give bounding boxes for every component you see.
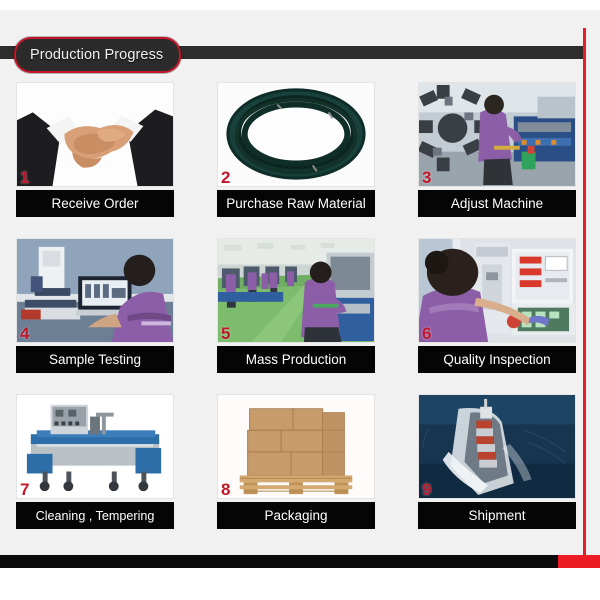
step-number: 5 <box>221 325 230 342</box>
step-label: Receive Order <box>16 190 174 217</box>
step-card-9[interactable]: 9 Shipment <box>418 394 576 529</box>
footer-dark-bar <box>0 555 560 568</box>
step-number: 4 <box>20 325 29 342</box>
right-red-rule <box>583 28 586 556</box>
operator-at-measuring-computer-photo <box>16 238 174 343</box>
cleaning-tempering-machine-photo <box>16 394 174 499</box>
step-card-4[interactable]: 4 Sample Testing <box>16 238 174 373</box>
production-progress-page: Production Progress 1 Receive Order <box>0 0 600 600</box>
step-number: 3 <box>422 169 431 186</box>
step-label: Purchase Raw Material <box>217 190 375 217</box>
step-number: 7 <box>20 481 29 498</box>
step-card-6[interactable]: 6 Quality Inspection <box>418 238 576 373</box>
step-label: Adjust Machine <box>418 190 576 217</box>
step-card-5[interactable]: 5 Mass Production <box>217 238 375 373</box>
step-number: 8 <box>221 481 230 498</box>
step-number: 6 <box>422 325 431 342</box>
step-label: Cleaning , Tempering <box>16 502 174 529</box>
handshake-photo <box>16 82 174 187</box>
step-label: Quality Inspection <box>418 346 576 373</box>
step-number: 1 <box>20 169 29 186</box>
step-card-7[interactable]: 7 Cleaning , Tempering <box>16 394 174 529</box>
step-label: Packaging <box>217 502 375 529</box>
worker-at-spring-machine-photo <box>418 82 576 187</box>
step-label: Sample Testing <box>16 346 174 373</box>
footer-red-bar <box>558 555 600 568</box>
page-title-text: Production Progress <box>30 47 163 63</box>
cartons-on-pallet-photo <box>217 394 375 499</box>
step-card-2[interactable]: 2 Purchase Raw Material <box>217 82 375 217</box>
factory-floor-photo <box>217 238 375 343</box>
step-card-1[interactable]: 1 Receive Order <box>16 82 174 217</box>
inspector-at-tester-photo <box>418 238 576 343</box>
step-card-3[interactable]: 3 Adjust Machine <box>418 82 576 217</box>
step-label: Shipment <box>418 502 576 529</box>
step-card-8[interactable]: 8 Packaging <box>217 394 375 529</box>
step-number: 9 <box>422 481 431 498</box>
wire-coil-photo <box>217 82 375 187</box>
process-steps-grid: 1 Receive Order 2 <box>16 82 576 529</box>
page-title: Production Progress <box>14 37 181 73</box>
step-label: Mass Production <box>217 346 375 373</box>
container-ship-photo <box>418 394 576 499</box>
step-number: 2 <box>221 169 230 186</box>
